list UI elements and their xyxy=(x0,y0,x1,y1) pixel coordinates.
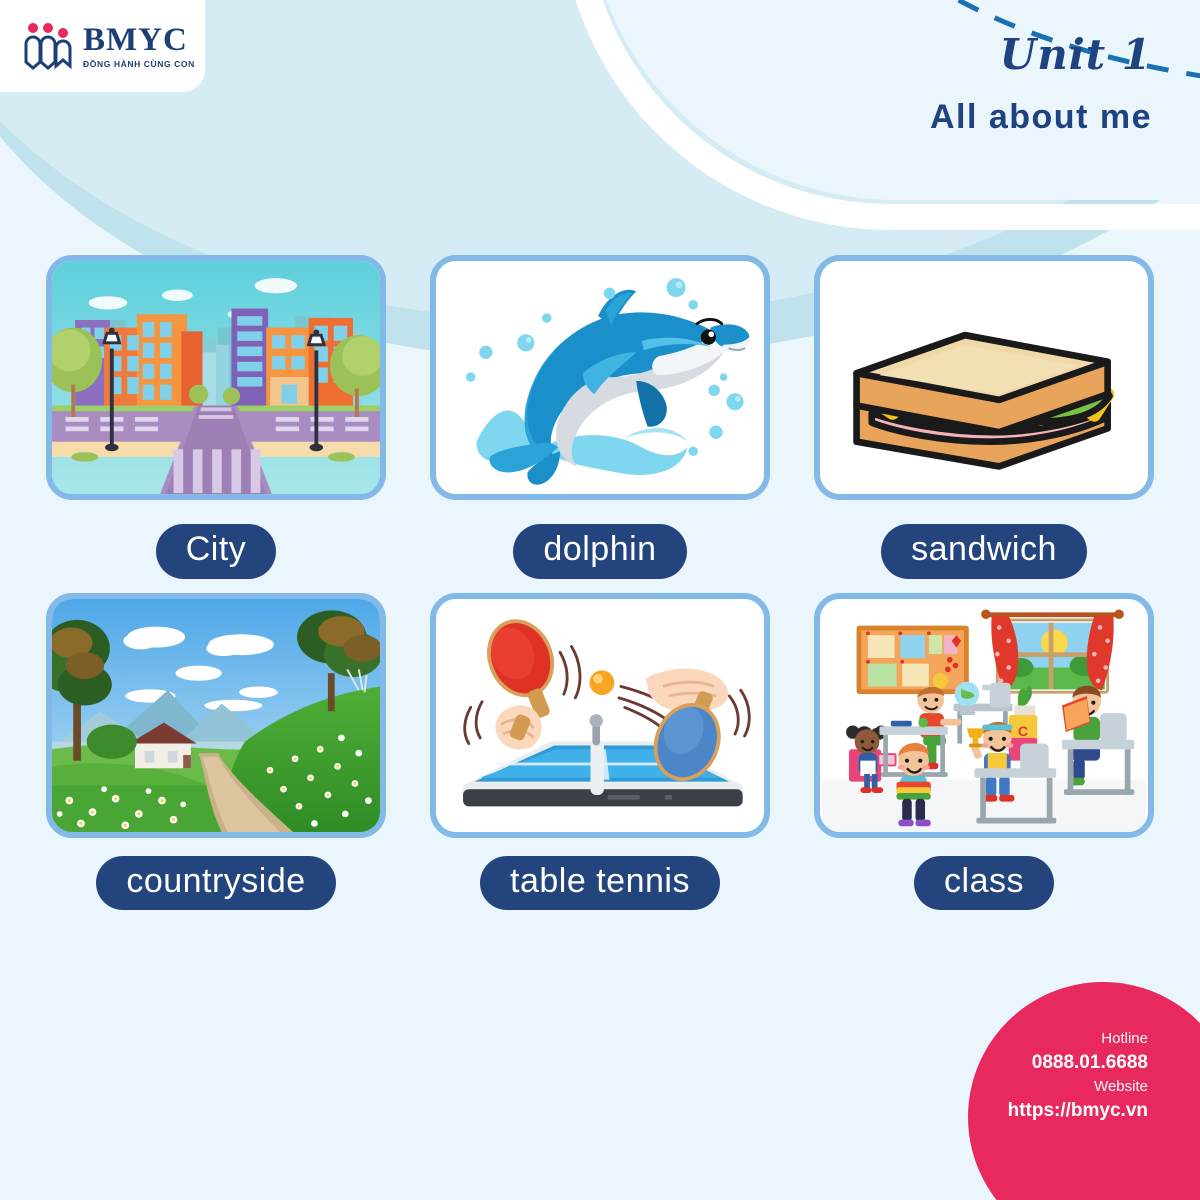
flashcard-label: sandwich xyxy=(881,524,1087,579)
flashcard-row-1: City xyxy=(0,255,1200,579)
website-label: Website xyxy=(958,1076,1148,1099)
countryside-card-image xyxy=(46,593,386,838)
hotline-label: Hotline xyxy=(958,1028,1148,1051)
flashcard-row-2: countryside xyxy=(0,593,1200,911)
flashcard-poster: BMYC ĐỒNG HÀNH CÙNG CON Unit 1 All about… xyxy=(0,0,1200,1200)
website-value: https://bmyc.vn xyxy=(958,1098,1148,1124)
class-card-image: A C xyxy=(814,593,1154,838)
logo-tagline: ĐỒNG HÀNH CÙNG CON xyxy=(83,60,195,69)
unit-subtitle: All about me xyxy=(930,98,1152,137)
flashcard-label: table tennis xyxy=(480,856,720,911)
flashcard-sandwich[interactable]: sandwich xyxy=(814,255,1154,579)
flashcard-label: dolphin xyxy=(513,524,686,579)
hotline-value: 0888.01.6688 xyxy=(958,1050,1148,1076)
flashcard-label: City xyxy=(156,524,277,579)
contact-info: Hotline 0888.01.6688 Website https://bmy… xyxy=(958,1028,1148,1124)
logo-wordmark: BMYC xyxy=(83,24,195,57)
unit-title: Unit 1 xyxy=(1000,30,1152,79)
flashcard-table-tennis[interactable]: table tennis xyxy=(430,593,770,911)
flashcard-label: class xyxy=(914,856,1054,911)
flashcard-label: countryside xyxy=(96,856,335,911)
table-tennis-card-image xyxy=(430,593,770,838)
sandwich-card-image xyxy=(814,255,1154,500)
flashcard-grid: City xyxy=(0,255,1200,924)
flashcard-class[interactable]: A C xyxy=(814,593,1154,911)
flashcard-dolphin[interactable]: dolphin xyxy=(430,255,770,579)
flashcard-countryside[interactable]: countryside xyxy=(46,593,386,911)
city-card-image xyxy=(46,255,386,500)
flashcard-city[interactable]: City xyxy=(46,255,386,579)
three-people-bookmark-icon xyxy=(22,22,74,70)
svg-text:C: C xyxy=(1018,724,1028,740)
dolphin-card-image xyxy=(430,255,770,500)
brand-logo: BMYC ĐỒNG HÀNH CÙNG CON xyxy=(0,0,205,92)
